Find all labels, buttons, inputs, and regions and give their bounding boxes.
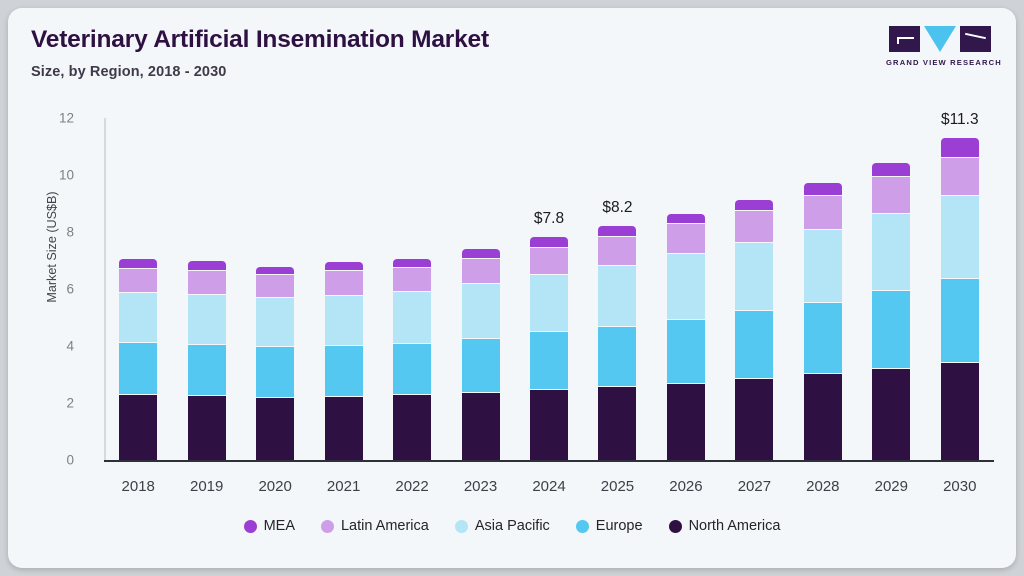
bar-stack-2020[interactable]	[256, 267, 294, 460]
y-axis-tick-10: 10	[30, 168, 74, 183]
bar-segment-2020-asia-pacific[interactable]	[256, 297, 294, 346]
bar-stack-2023[interactable]	[462, 249, 500, 460]
bar-stack-2022[interactable]	[393, 259, 431, 460]
bar-segment-2019-north-america[interactable]	[188, 395, 226, 460]
legend-label: MEA	[264, 518, 295, 534]
legend-item-mea[interactable]: MEA	[244, 518, 295, 534]
bar-segment-2026-north-america[interactable]	[667, 383, 705, 460]
chart-card: Veterinary Artificial Insemination Marke…	[8, 8, 1016, 568]
bar-stack-2019[interactable]	[188, 261, 226, 460]
bar-segment-2023-asia-pacific[interactable]	[462, 283, 500, 338]
bar-segment-2028-europe[interactable]	[804, 302, 842, 373]
bar-segment-2018-mea[interactable]	[119, 259, 157, 268]
bar-stack-2027[interactable]	[735, 200, 773, 460]
bar-segment-2030-europe[interactable]	[941, 278, 979, 362]
bar-segment-2029-latin-america[interactable]	[872, 176, 910, 212]
bar-segment-2026-asia-pacific[interactable]	[667, 253, 705, 319]
legend-label: Europe	[596, 518, 643, 534]
bar-segment-2026-latin-america[interactable]	[667, 223, 705, 253]
bar-segment-2021-latin-america[interactable]	[325, 270, 363, 294]
bar-segment-2029-north-america[interactable]	[872, 368, 910, 460]
bar-segment-2019-mea[interactable]	[188, 261, 226, 270]
bar-segment-2018-europe[interactable]	[119, 342, 157, 395]
bar-stack-2021[interactable]	[325, 262, 363, 460]
bar-stack-2030[interactable]: $11.3	[941, 138, 979, 460]
bar-stack-2025[interactable]: $8.2	[598, 226, 636, 460]
bar-segment-2030-asia-pacific[interactable]	[941, 195, 979, 278]
bar-segment-2028-asia-pacific[interactable]	[804, 229, 842, 302]
bar-segment-2025-mea[interactable]	[598, 226, 636, 237]
bar-segment-2021-asia-pacific[interactable]	[325, 295, 363, 345]
bar-value-label-2025: $8.2	[602, 199, 632, 217]
bar-segment-2027-latin-america[interactable]	[735, 210, 773, 242]
y-axis-tick-2: 2	[30, 396, 74, 411]
bar-segment-2024-north-america[interactable]	[530, 389, 568, 460]
bar-segment-2019-asia-pacific[interactable]	[188, 294, 226, 344]
legend-swatch-icon	[244, 520, 257, 533]
bar-segment-2021-north-america[interactable]	[325, 396, 363, 460]
bar-series-container: $7.8$8.2$11.3	[104, 118, 994, 460]
legend-swatch-icon	[576, 520, 589, 533]
bar-segment-2027-europe[interactable]	[735, 310, 773, 378]
legend-swatch-icon	[455, 520, 468, 533]
legend-swatch-icon	[321, 520, 334, 533]
bar-segment-2021-mea[interactable]	[325, 262, 363, 271]
bar-segment-2019-latin-america[interactable]	[188, 270, 226, 294]
legend-item-europe[interactable]: Europe	[576, 518, 643, 534]
bar-segment-2027-asia-pacific[interactable]	[735, 242, 773, 310]
bar-segment-2030-north-america[interactable]	[941, 362, 979, 460]
bar-segment-2027-mea[interactable]	[735, 200, 773, 210]
bar-stack-2018[interactable]	[119, 259, 157, 460]
y-axis-ticks: 024681012	[30, 8, 74, 568]
bar-segment-2024-asia-pacific[interactable]	[530, 274, 568, 331]
bar-segment-2026-europe[interactable]	[667, 319, 705, 383]
bar-segment-2018-latin-america[interactable]	[119, 268, 157, 292]
bar-segment-2023-mea[interactable]	[462, 249, 500, 258]
bar-segment-2028-latin-america[interactable]	[804, 195, 842, 229]
bar-segment-2023-europe[interactable]	[462, 338, 500, 392]
bar-segment-2030-latin-america[interactable]	[941, 157, 979, 195]
bar-segment-2028-mea[interactable]	[804, 183, 842, 195]
bar-segment-2025-latin-america[interactable]	[598, 236, 636, 265]
bar-stack-2026[interactable]	[667, 214, 705, 460]
bar-segment-2024-latin-america[interactable]	[530, 247, 568, 274]
bar-segment-2024-mea[interactable]	[530, 237, 568, 247]
bar-segment-2020-latin-america[interactable]	[256, 274, 294, 297]
legend-label: Latin America	[341, 518, 429, 534]
bar-segment-2022-latin-america[interactable]	[393, 267, 431, 291]
bar-segment-2025-north-america[interactable]	[598, 386, 636, 460]
legend-item-north-america[interactable]: North America	[669, 518, 781, 534]
x-axis-tick-2030: 2030	[920, 478, 1000, 495]
bar-segment-2030-mea[interactable]	[941, 138, 979, 157]
bar-segment-2026-mea[interactable]	[667, 214, 705, 223]
bar-segment-2020-north-america[interactable]	[256, 397, 294, 460]
chart-plot-area: Market Size (US$B) 024681012 $7.8$8.2$11…	[8, 8, 1016, 568]
bar-segment-2023-north-america[interactable]	[462, 392, 500, 460]
bar-value-label-2030: $11.3	[941, 111, 979, 129]
x-axis-ticks: 2018201920202021202220232024202520262027…	[104, 478, 994, 502]
bar-segment-2025-asia-pacific[interactable]	[598, 265, 636, 326]
x-axis-line	[104, 460, 994, 462]
bar-segment-2024-europe[interactable]	[530, 331, 568, 389]
y-axis-tick-6: 6	[30, 282, 74, 297]
legend-item-asia-pacific[interactable]: Asia Pacific	[455, 518, 550, 534]
y-axis-tick-12: 12	[30, 111, 74, 126]
bar-segment-2018-north-america[interactable]	[119, 394, 157, 460]
bar-segment-2021-europe[interactable]	[325, 345, 363, 396]
bar-segment-2019-europe[interactable]	[188, 344, 226, 395]
chart-legend: MEALatin AmericaAsia PacificEuropeNorth …	[8, 518, 1016, 534]
bar-value-label-2024: $7.8	[534, 210, 564, 228]
bar-segment-2029-europe[interactable]	[872, 290, 910, 368]
bar-stack-2028[interactable]	[804, 183, 842, 460]
bar-segment-2022-mea[interactable]	[393, 259, 431, 268]
bar-segment-2022-asia-pacific[interactable]	[393, 291, 431, 342]
legend-label: North America	[689, 518, 781, 534]
bar-segment-2027-north-america[interactable]	[735, 378, 773, 460]
y-axis-tick-8: 8	[30, 225, 74, 240]
bar-segment-2020-europe[interactable]	[256, 346, 294, 397]
legend-item-latin-america[interactable]: Latin America	[321, 518, 429, 534]
y-axis-tick-0: 0	[30, 453, 74, 468]
legend-label: Asia Pacific	[475, 518, 550, 534]
bar-segment-2018-asia-pacific[interactable]	[119, 292, 157, 342]
bar-stack-2029[interactable]	[872, 163, 910, 460]
bar-segment-2025-europe[interactable]	[598, 326, 636, 386]
bar-segment-2029-mea[interactable]	[872, 163, 910, 176]
legend-swatch-icon	[669, 520, 682, 533]
bar-segment-2023-latin-america[interactable]	[462, 258, 500, 284]
bar-segment-2028-north-america[interactable]	[804, 373, 842, 460]
y-axis-tick-4: 4	[30, 339, 74, 354]
bar-stack-2024[interactable]: $7.8	[530, 237, 568, 460]
bar-segment-2022-north-america[interactable]	[393, 394, 431, 460]
bar-segment-2022-europe[interactable]	[393, 343, 431, 395]
bar-segment-2029-asia-pacific[interactable]	[872, 213, 910, 290]
bar-segment-2020-mea[interactable]	[256, 267, 294, 274]
